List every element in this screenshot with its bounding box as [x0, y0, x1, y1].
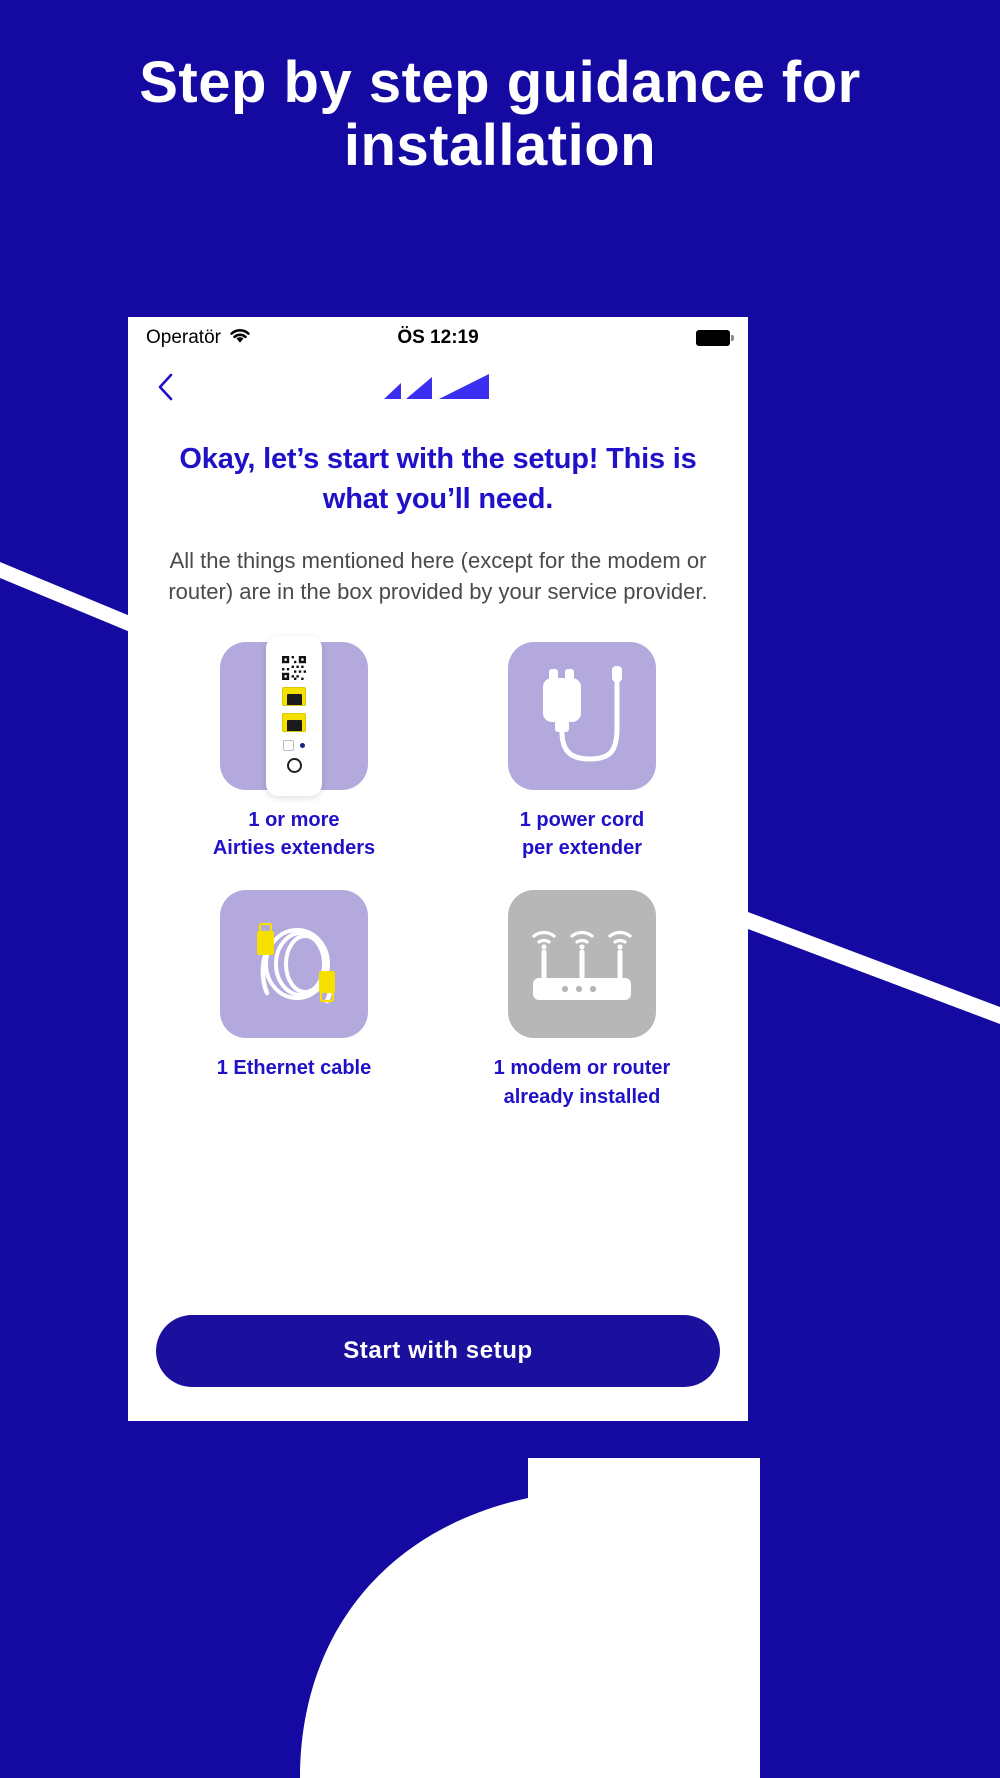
caption-line-2: already installed	[494, 1083, 671, 1111]
wifi-extender-icon	[266, 636, 322, 796]
wifi-icon	[229, 328, 251, 349]
bottom-right-block	[748, 1458, 760, 1778]
tile-router	[508, 890, 656, 1038]
caption-line-1: 1 or more	[213, 806, 375, 834]
carrier-label: Operatör	[146, 327, 221, 349]
page-title: Step by step guidance for installation	[0, 52, 1000, 177]
caption-router: 1 modem or router already installed	[494, 1054, 671, 1111]
caption-line-2: Airties extenders	[213, 834, 375, 862]
power-adapter-icon	[527, 658, 637, 773]
router-icon	[521, 912, 643, 1016]
status-led-icon	[300, 743, 305, 748]
requirement-item-router: 1 modem or router already installed	[438, 890, 726, 1111]
rj45-connector	[257, 924, 274, 955]
app-navbar	[128, 359, 748, 415]
caption-line-1: 1 Ethernet cable	[217, 1054, 372, 1082]
status-bar-right	[696, 330, 730, 346]
battery-full-icon	[696, 330, 730, 346]
power-jack-icon	[287, 758, 302, 773]
tile-power-cord	[508, 642, 656, 790]
cta-container: Start with setup	[150, 1315, 726, 1421]
chevron-left-icon	[155, 372, 175, 402]
requirement-item-extender: 1 or more Airties extenders	[150, 642, 438, 863]
status-bar-left: Operatör	[146, 327, 251, 349]
requirement-item-ethernet-cable: 1 Ethernet cable	[150, 890, 438, 1111]
screen-title: Okay, let’s start with the setup! This i…	[150, 439, 726, 519]
caption-line-1: 1 power cord	[520, 806, 644, 834]
caption-line-1: 1 modem or router	[494, 1054, 671, 1082]
screen-subtitle: All the things mentioned here (except fo…	[150, 545, 726, 607]
tile-ethernet-cable	[220, 890, 368, 1038]
screen-content: Okay, let’s start with the setup! This i…	[128, 415, 748, 1421]
qr-code-icon	[282, 656, 306, 680]
requirement-item-power-cord: 1 power cord per extender	[438, 642, 726, 863]
start-with-setup-button[interactable]: Start with setup	[156, 1315, 720, 1387]
caption-power-cord: 1 power cord per extender	[520, 806, 644, 863]
caption-ethernet-cable: 1 Ethernet cable	[217, 1054, 372, 1082]
ethernet-cable-icon	[231, 909, 357, 1019]
ethernet-port	[282, 713, 306, 732]
tile-extender	[220, 642, 368, 790]
ethernet-port	[282, 687, 306, 706]
airties-logo	[128, 374, 748, 400]
requirements-grid: 1 or more Airties extenders	[150, 642, 726, 1112]
wps-button-icon	[283, 740, 294, 751]
caption-extender: 1 or more Airties extenders	[213, 806, 375, 863]
phone-mockup: Operatör ÖS 12:19	[128, 317, 748, 1421]
caption-line-2: per extender	[520, 834, 644, 862]
back-button[interactable]	[150, 372, 180, 402]
status-bar: Operatör ÖS 12:19	[128, 317, 748, 359]
